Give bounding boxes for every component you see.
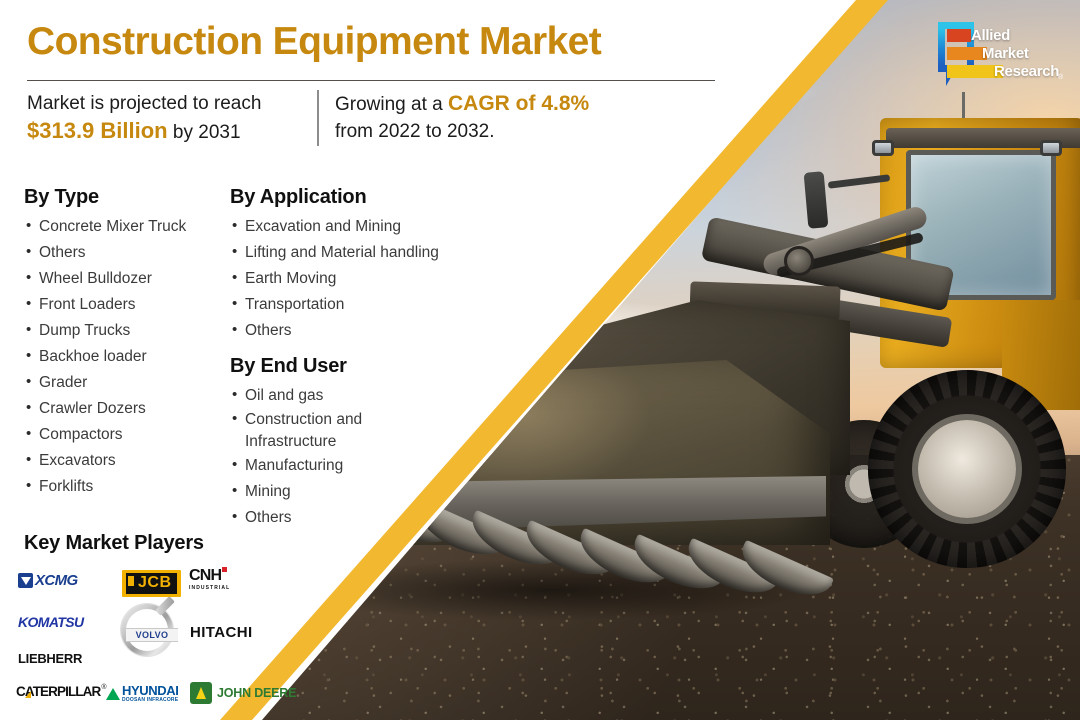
cnh-red-dot-icon — [222, 567, 227, 572]
logo-komatsu: KOMATSU — [18, 614, 84, 630]
stats-divider — [317, 90, 319, 146]
logo-john-deere: JOHN DEERE — [190, 682, 296, 704]
cagr-line2: from 2022 to 2032. — [335, 118, 665, 145]
hyundai-wordmark: HYUNDAI DOOSAN INFRACORE — [122, 684, 178, 703]
logo-liebherr: LIEBHERR — [18, 651, 82, 666]
list-item: Crawler Dozers — [26, 396, 186, 422]
title-divider — [27, 80, 715, 81]
brand-bar-orange — [947, 47, 987, 60]
section-heading-by-application: By Application — [230, 186, 366, 209]
logo-hitachi: HITACHI — [190, 624, 253, 641]
caterpillar-wedge-icon — [25, 691, 31, 698]
market-size-year: by 2031 — [168, 122, 241, 143]
logo-label: JOHN DEERE — [217, 686, 296, 700]
logo-sublabel: DOOSAN INFRACORE — [122, 697, 178, 703]
list-item: Manufacturing — [232, 453, 382, 479]
brand-name-line1: Allied — [971, 27, 1010, 44]
list-item: Wheel Bulldozer — [26, 266, 186, 292]
list-item: Construction and Infrastructure — [232, 409, 382, 453]
allied-market-research-logo: Allied Market Research ® — [938, 22, 1064, 92]
list-item: Transportation — [232, 292, 439, 318]
brand-registered-mark: ® — [1058, 74, 1063, 81]
player-logo-grid: XCMG JCB CNH INDUSTRIAL KOMATSU — [14, 566, 304, 706]
brand-name-line3: Research — [994, 63, 1059, 80]
john-deere-deer-icon — [190, 682, 212, 704]
cagr-line1: Growing at a CAGR of 4.8% — [335, 90, 665, 118]
list-item: Backhoe loader — [26, 344, 186, 370]
market-size-value: $313.9 Billion — [27, 118, 168, 143]
list-item: Lifting and Material handling — [232, 240, 439, 266]
brand-bar-red — [947, 29, 971, 42]
logo-xcmg: XCMG — [18, 572, 78, 589]
list-item: Others — [232, 505, 382, 531]
logo-jcb: JCB — [122, 570, 181, 597]
section-list-by-application: Excavation and Mining Lifting and Materi… — [232, 214, 439, 344]
market-size-line2: $313.9 Billion by 2031 — [27, 117, 307, 146]
logo-label: KOMATSU — [18, 614, 84, 630]
xcmg-triangle-icon — [18, 573, 33, 588]
list-item: Dump Trucks — [26, 318, 186, 344]
logo-hyundai-doosan-infracore: HYUNDAI DOOSAN INFRACORE — [106, 684, 178, 703]
logo-label: LIEBHERR — [18, 651, 82, 666]
logo-label: HYUNDAI — [122, 684, 178, 697]
volvo-bar: VOLVO — [126, 628, 178, 642]
volvo-arrow-icon — [155, 596, 175, 616]
logo-volvo: VOLVO — [121, 604, 173, 656]
list-item: Compactors — [26, 422, 186, 448]
list-item: Excavation and Mining — [232, 214, 439, 240]
list-item: Earth Moving — [232, 266, 439, 292]
list-item: Concrete Mixer Truck — [26, 214, 186, 240]
volvo-ring-icon: VOLVO — [121, 604, 173, 656]
list-item: Mining — [232, 479, 382, 505]
section-heading-key-market-players: Key Market Players — [24, 532, 204, 555]
list-item: Excavators — [26, 448, 186, 474]
market-size-stat: Market is projected to reach $313.9 Bill… — [27, 90, 307, 146]
cagr-stat: Growing at a CAGR of 4.8% from 2022 to 2… — [335, 90, 665, 145]
logo-sublabel: INDUSTRIAL — [189, 585, 230, 591]
section-heading-by-type: By Type — [24, 186, 99, 209]
cagr-value: CAGR of 4.8% — [448, 92, 589, 115]
logo-caterpillar: CATERPILLAR ® — [16, 684, 107, 699]
logo-label: JCB — [125, 572, 178, 595]
jcb-badge-icon: JCB — [122, 570, 181, 597]
list-item: Front Loaders — [26, 292, 186, 318]
market-size-line1: Market is projected to reach — [27, 90, 307, 117]
cnh-wordmark: CNH — [189, 568, 227, 584]
list-item: Grader — [26, 370, 186, 396]
logo-label: HITACHI — [190, 624, 253, 641]
hyundai-triangle-icon — [106, 688, 120, 700]
list-item: Others — [232, 318, 439, 344]
logo-label: VOLVO — [136, 630, 169, 640]
logo-label: XCMG — [35, 572, 78, 589]
content-layer: Construction Equipment Market Market is … — [0, 0, 1080, 720]
infographic-canvas: Construction Equipment Market Market is … — [0, 0, 1080, 720]
brand-name-line2: Market — [982, 45, 1029, 62]
list-item: Others — [26, 240, 186, 266]
cagr-prefix: Growing at a — [335, 94, 448, 115]
section-list-by-end-user: Oil and gas Construction and Infrastruct… — [232, 383, 382, 531]
logo-label: CNH — [189, 568, 221, 584]
logo-cnh-industrial: CNH INDUSTRIAL — [189, 568, 230, 591]
section-heading-by-end-user: By End User — [230, 355, 347, 378]
page-title: Construction Equipment Market — [27, 20, 601, 64]
list-item: Forklifts — [26, 474, 186, 500]
section-list-by-type: Concrete Mixer Truck Others Wheel Bulldo… — [26, 214, 186, 500]
list-item: Oil and gas — [232, 383, 382, 409]
